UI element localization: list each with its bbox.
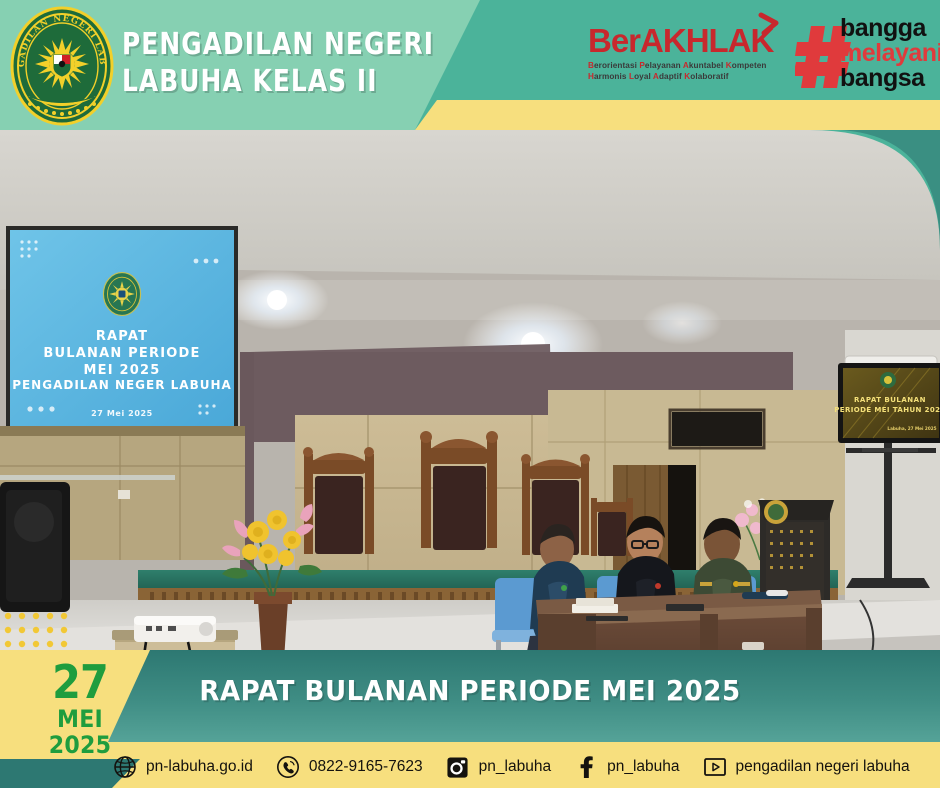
header-bar: PENGADILAN NEGERI LABUHA (0, 0, 940, 130)
berakhlak-logo: BerAKHLAK Berorientasi Pelayanan Akuntab… (588, 24, 788, 82)
svg-text:MEI 2025: MEI 2025 (84, 363, 161, 378)
globe-icon (112, 754, 138, 780)
presenter-table (536, 590, 822, 650)
court-logo: PENGADILAN NEGERI LABUHA (6, 4, 118, 128)
contact-phone-label: 0822-9165-7623 (309, 758, 423, 776)
contact-facebook[interactable]: pn_labuha (573, 754, 679, 780)
projection-screen: RAPAT BULANAN PERIODE MEI 2025 PENGADILA… (6, 226, 238, 432)
youtube-icon (702, 754, 728, 780)
event-date: 27 MEI 2025 (20, 658, 140, 758)
svg-text:27 Mei 2025: 27 Mei 2025 (91, 409, 153, 418)
svg-text:BULANAN PERIODE: BULANAN PERIODE (43, 346, 200, 361)
contact-youtube[interactable]: pengadilan negeri labuha (702, 754, 910, 780)
phone-icon (275, 754, 301, 780)
contact-facebook-label: pn_labuha (607, 758, 679, 776)
event-photo: RAPAT BULANAN PERIODE MEI 2025 PENGADILA… (0, 130, 940, 650)
berakhlak-wordmark: BerAKHLAK (588, 24, 788, 58)
event-date-day: 27 (26, 658, 134, 706)
svg-text:PENGADILAN NEGER LABUHA: PENGADILAN NEGER LABUHA (12, 378, 232, 392)
institution-title-line2: LABUHA KELAS II (122, 63, 434, 100)
contact-phone[interactable]: 0822-9165-7623 (275, 754, 423, 780)
event-title: RAPAT BULANAN PERIODE MEI 2025 (33, 674, 907, 707)
bangga-line1: bangga (840, 16, 940, 41)
bangga-text-block: bangga melayani bangsa (840, 16, 940, 91)
contact-instagram[interactable]: pn_labuha (445, 754, 551, 780)
instagram-icon (445, 754, 471, 780)
institution-title-line1: PENGADILAN NEGERI (122, 26, 434, 63)
podium (758, 500, 834, 600)
contact-website-label: pn-labuha.go.id (146, 758, 253, 776)
svg-text:RAPAT BULANAN: RAPAT BULANAN (854, 396, 926, 404)
bangga-melayani-bangsa-logo: bangga melayani bangsa (795, 16, 935, 104)
berakhlak-tagline-line1: Berorientasi Pelayanan Akuntabel Kompete… (588, 61, 788, 72)
flyer-card: PENGADILAN NEGERI LABUHA (0, 0, 940, 788)
berakhlak-arrow-icon (756, 10, 782, 44)
svg-text:RAPAT: RAPAT (96, 329, 148, 344)
speaker (0, 482, 70, 612)
berakhlak-suffix: AKHLAK (640, 22, 773, 59)
facebook-icon (573, 754, 599, 780)
berakhlak-tagline-line2: Harmonis Loyal Adaptif Kolaboratif (588, 72, 788, 83)
svg-text:Labuha, 27 Mei 2025: Labuha, 27 Mei 2025 (887, 426, 936, 431)
institution-title: PENGADILAN NEGERI LABUHA KELAS II (122, 26, 434, 100)
bangga-line3: bangsa (840, 66, 940, 91)
header-yellow-strip (415, 100, 940, 130)
contact-bar: pn-labuha.go.id 0822-9165-7623 pn_la (112, 750, 932, 784)
svg-text:PERIODE MEI TAHUN 2025: PERIODE MEI TAHUN 2025 (834, 406, 940, 414)
bangga-line2: melayani (840, 41, 940, 66)
contact-youtube-label: pengadilan negeri labuha (736, 758, 910, 776)
berakhlak-prefix: Ber (588, 22, 640, 59)
contact-website[interactable]: pn-labuha.go.id (112, 754, 253, 780)
contact-instagram-label: pn_labuha (479, 758, 551, 776)
